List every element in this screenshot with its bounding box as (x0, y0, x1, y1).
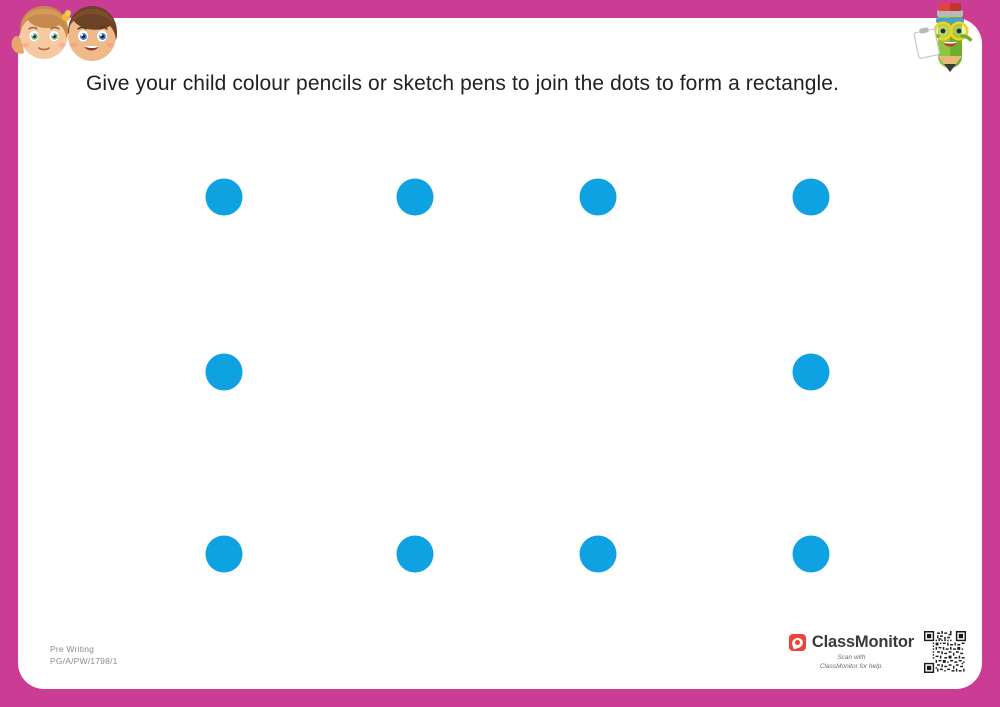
classmonitor-logo-icon (789, 634, 806, 651)
footer-subject: Pre Writing (50, 643, 118, 655)
footer-code-block: Pre Writing PG/A/PW/1798/1 (50, 643, 118, 667)
pencil-mascot-icon (910, 2, 990, 74)
brand-name: ClassMonitor (812, 633, 914, 652)
brand-footer: ClassMonitor Scan with ClassMonitor for … (789, 631, 966, 673)
dot-top-2 (397, 179, 434, 216)
dot-middle-1 (206, 354, 243, 391)
dot-bottom-3 (580, 536, 617, 573)
dot-middle-2 (793, 354, 830, 391)
footer-sheet-code: PG/A/PW/1798/1 (50, 655, 118, 667)
dot-top-4 (793, 179, 830, 216)
dot-bottom-4 (793, 536, 830, 573)
brand-tagline: Scan with ClassMonitor for help. (820, 654, 883, 671)
dot-bottom-1 (206, 536, 243, 573)
worksheet-page: Give your child colour pencils or sketch… (0, 0, 1000, 707)
dot-bottom-2 (397, 536, 434, 573)
two-children-faces-icon (4, 0, 134, 62)
brand-logo-block: ClassMonitor Scan with ClassMonitor for … (789, 633, 914, 671)
qr-code-icon (924, 631, 966, 673)
brand-tagline-line1: Scan with (820, 654, 883, 663)
worksheet-paper: Give your child colour pencils or sketch… (18, 18, 982, 689)
dot-top-1 (206, 179, 243, 216)
dot-top-3 (580, 179, 617, 216)
brand-tagline-line2: ClassMonitor for help. (820, 663, 883, 672)
dot-grid (18, 18, 982, 689)
brand-logo-row: ClassMonitor (789, 633, 914, 652)
